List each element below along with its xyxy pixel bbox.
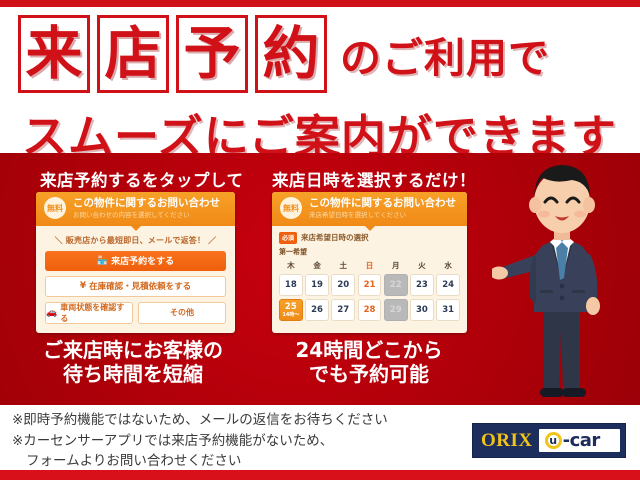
card-header-title-right: この物件に関するお問い合わせ <box>309 197 456 209</box>
calendar-day-cell[interactable]: 19 <box>305 274 329 296</box>
calendar-label-row: 必須 来店希望日時の選択 <box>279 232 460 244</box>
secondary-button-row: 🚗 車両状態を確認する その他 <box>45 302 226 324</box>
u-ring-icon: u <box>545 432 562 449</box>
calendar-dow-header: 金 <box>305 260 329 272</box>
left-panel-title: 来店予約するをタップして <box>40 167 244 191</box>
reserve-visit-button[interactable]: 🏪 来店予約をする <box>45 251 226 271</box>
footer-note-3: フォームよりお問い合わせください <box>12 451 462 472</box>
header-notch-right <box>364 225 376 231</box>
headline-char-box-3: 予 <box>176 15 248 93</box>
first-choice-label: 第一希望 <box>279 247 460 257</box>
yen-icon: ¥ <box>80 281 86 291</box>
card-header-sub-left: お問い合わせの内容を選択してください <box>73 211 220 219</box>
left-caption-line2: 待ち時間を短縮 <box>18 363 248 387</box>
calendar-dow-header: 日 <box>358 260 382 272</box>
calendar-day-number: 24 <box>442 280 454 290</box>
free-badge-left: 無料 <box>44 197 66 219</box>
headline-block: 来 店 予 約 のご利用で スムーズにご案内ができます <box>0 7 640 153</box>
calendar-day-number: 20 <box>337 280 349 290</box>
calendar-day-cell[interactable]: 23 <box>410 274 434 296</box>
calendar-day-cell[interactable]: 20 <box>331 274 355 296</box>
top-red-rule <box>0 0 640 7</box>
other-button[interactable]: その他 <box>138 302 226 324</box>
store-icon: 🏪 <box>97 256 108 266</box>
header-notch-left <box>130 225 142 231</box>
headline-char-box-4: 約 <box>255 15 327 93</box>
stock-quote-label: 在庫確認・見積依頼をする <box>89 280 191 292</box>
headline-tail-text: のご利用で <box>340 24 550 84</box>
inquiry-form-card: 無料 この物件に関するお問い合わせ お問い合わせの内容を選択してください ＼ 販… <box>36 192 235 333</box>
calendar-dow-header: 木 <box>279 260 303 272</box>
headline-char-box-2: 店 <box>97 15 169 93</box>
car-icon: 🚗 <box>46 308 57 318</box>
calendar-grid[interactable]: 木金土日月火水181920212223242514時〜262728293031 <box>279 260 460 321</box>
card-header-title-left: この物件に関するお問い合わせ <box>73 197 220 209</box>
right-caption: 24時間どこから でも予約可能 <box>260 339 478 386</box>
headline-line1: 来 店 予 約 のご利用で <box>18 15 550 93</box>
stock-quote-button[interactable]: ¥ 在庫確認・見積依頼をする <box>45 276 226 297</box>
left-caption: ご来店時にお客様の 待ち時間を短縮 <box>18 339 248 386</box>
footer-note-2: ※カーセンサーアプリでは来店予約機能がないため、 <box>12 431 462 452</box>
card-header-right: 無料 この物件に関するお問い合わせ 来店希望日時を選択してください <box>272 192 467 226</box>
calendar-day-number: 21 <box>364 280 376 290</box>
free-badge-right: 無料 <box>280 197 302 219</box>
calendar-day-cell[interactable]: 26 <box>305 299 329 321</box>
calendar-day-number: 27 <box>337 305 349 315</box>
calendar-day-number: 25 <box>285 302 297 312</box>
salesman-illustration <box>492 150 632 406</box>
footer-note-1: ※即時予約機能ではないため、メールの返信をお待ちください <box>12 410 462 431</box>
required-badge: 必須 <box>279 232 297 244</box>
right-panel-title: 来店日時を選択するだけ！ <box>272 167 476 191</box>
calendar-wrapper: 必須 来店希望日時の選択 第一希望 木金土日月火水181920212223242… <box>272 226 467 325</box>
right-caption-line2: でも予約可能 <box>260 363 478 387</box>
card-header-left: 無料 この物件に関するお問い合わせ お問い合わせの内容を選択してください <box>36 192 235 226</box>
footer-notes: ※即時予約機能ではないため、メールの返信をお待ちください ※カーセンサーアプリで… <box>12 410 462 472</box>
orix-wordmark: ORIX <box>473 430 539 452</box>
calendar-day-number: 29 <box>390 305 402 315</box>
reserve-visit-label: 来店予約をする <box>111 254 174 267</box>
calendar-day-number: 23 <box>416 280 428 290</box>
bottom-red-rule <box>0 470 640 480</box>
headline-char-box-1: 来 <box>18 15 90 93</box>
calendar-day-number: 31 <box>442 305 454 315</box>
other-label: その他 <box>170 307 194 318</box>
ucar-dash: - <box>563 430 570 451</box>
ad-banner: 来 店 予 約 のご利用で スムーズにご案内ができます 来店予約するをタップして… <box>0 0 640 480</box>
calendar-day-cell[interactable]: 21 <box>358 274 382 296</box>
calendar-day-cell: 29 <box>384 299 408 321</box>
vehicle-condition-label: 車両状態を確認する <box>60 302 132 324</box>
calendar-dow-header: 土 <box>331 260 355 272</box>
calendar-day-cell[interactable]: 24 <box>436 274 460 296</box>
calendar-card: 無料 この物件に関するお問い合わせ 来店希望日時を選択してください 必須 来店希… <box>272 192 467 333</box>
calendar-label: 来店希望日時の選択 <box>301 232 369 243</box>
calendar-day-cell[interactable]: 31 <box>436 299 460 321</box>
calendar-dow-header: 月 <box>384 260 408 272</box>
calendar-day-number: 22 <box>390 280 402 290</box>
calendar-day-number: 30 <box>416 305 428 315</box>
calendar-day-cell[interactable]: 18 <box>279 274 303 296</box>
left-caption-line1: ご来店時にお客様の <box>18 339 248 363</box>
calendar-day-number: 18 <box>285 280 297 290</box>
right-caption-line1: 24時間どこから <box>260 339 478 363</box>
orix-ucar-logo: ORIX u - car <box>472 423 626 458</box>
vehicle-condition-button[interactable]: 🚗 車両状態を確認する <box>45 302 133 324</box>
calendar-day-cell[interactable]: 30 <box>410 299 434 321</box>
calendar-day-cell[interactable]: 27 <box>331 299 355 321</box>
calendar-day-number: 26 <box>311 305 323 315</box>
calendar-day-number: 28 <box>364 305 376 315</box>
calendar-dow-header: 水 <box>436 260 460 272</box>
calendar-day-cell: 22 <box>384 274 408 296</box>
calendar-dow-header: 火 <box>410 260 434 272</box>
calendar-day-cell[interactable]: 2514時〜 <box>279 299 303 321</box>
ucar-wordmark: u - car <box>539 429 620 452</box>
calendar-day-cell[interactable]: 28 <box>358 299 382 321</box>
ucar-car-text: car <box>570 430 600 451</box>
calendar-day-time: 14時〜 <box>282 313 299 318</box>
card-header-sub-right: 来店希望日時を選択してください <box>309 211 456 219</box>
calendar-day-number: 19 <box>311 280 323 290</box>
